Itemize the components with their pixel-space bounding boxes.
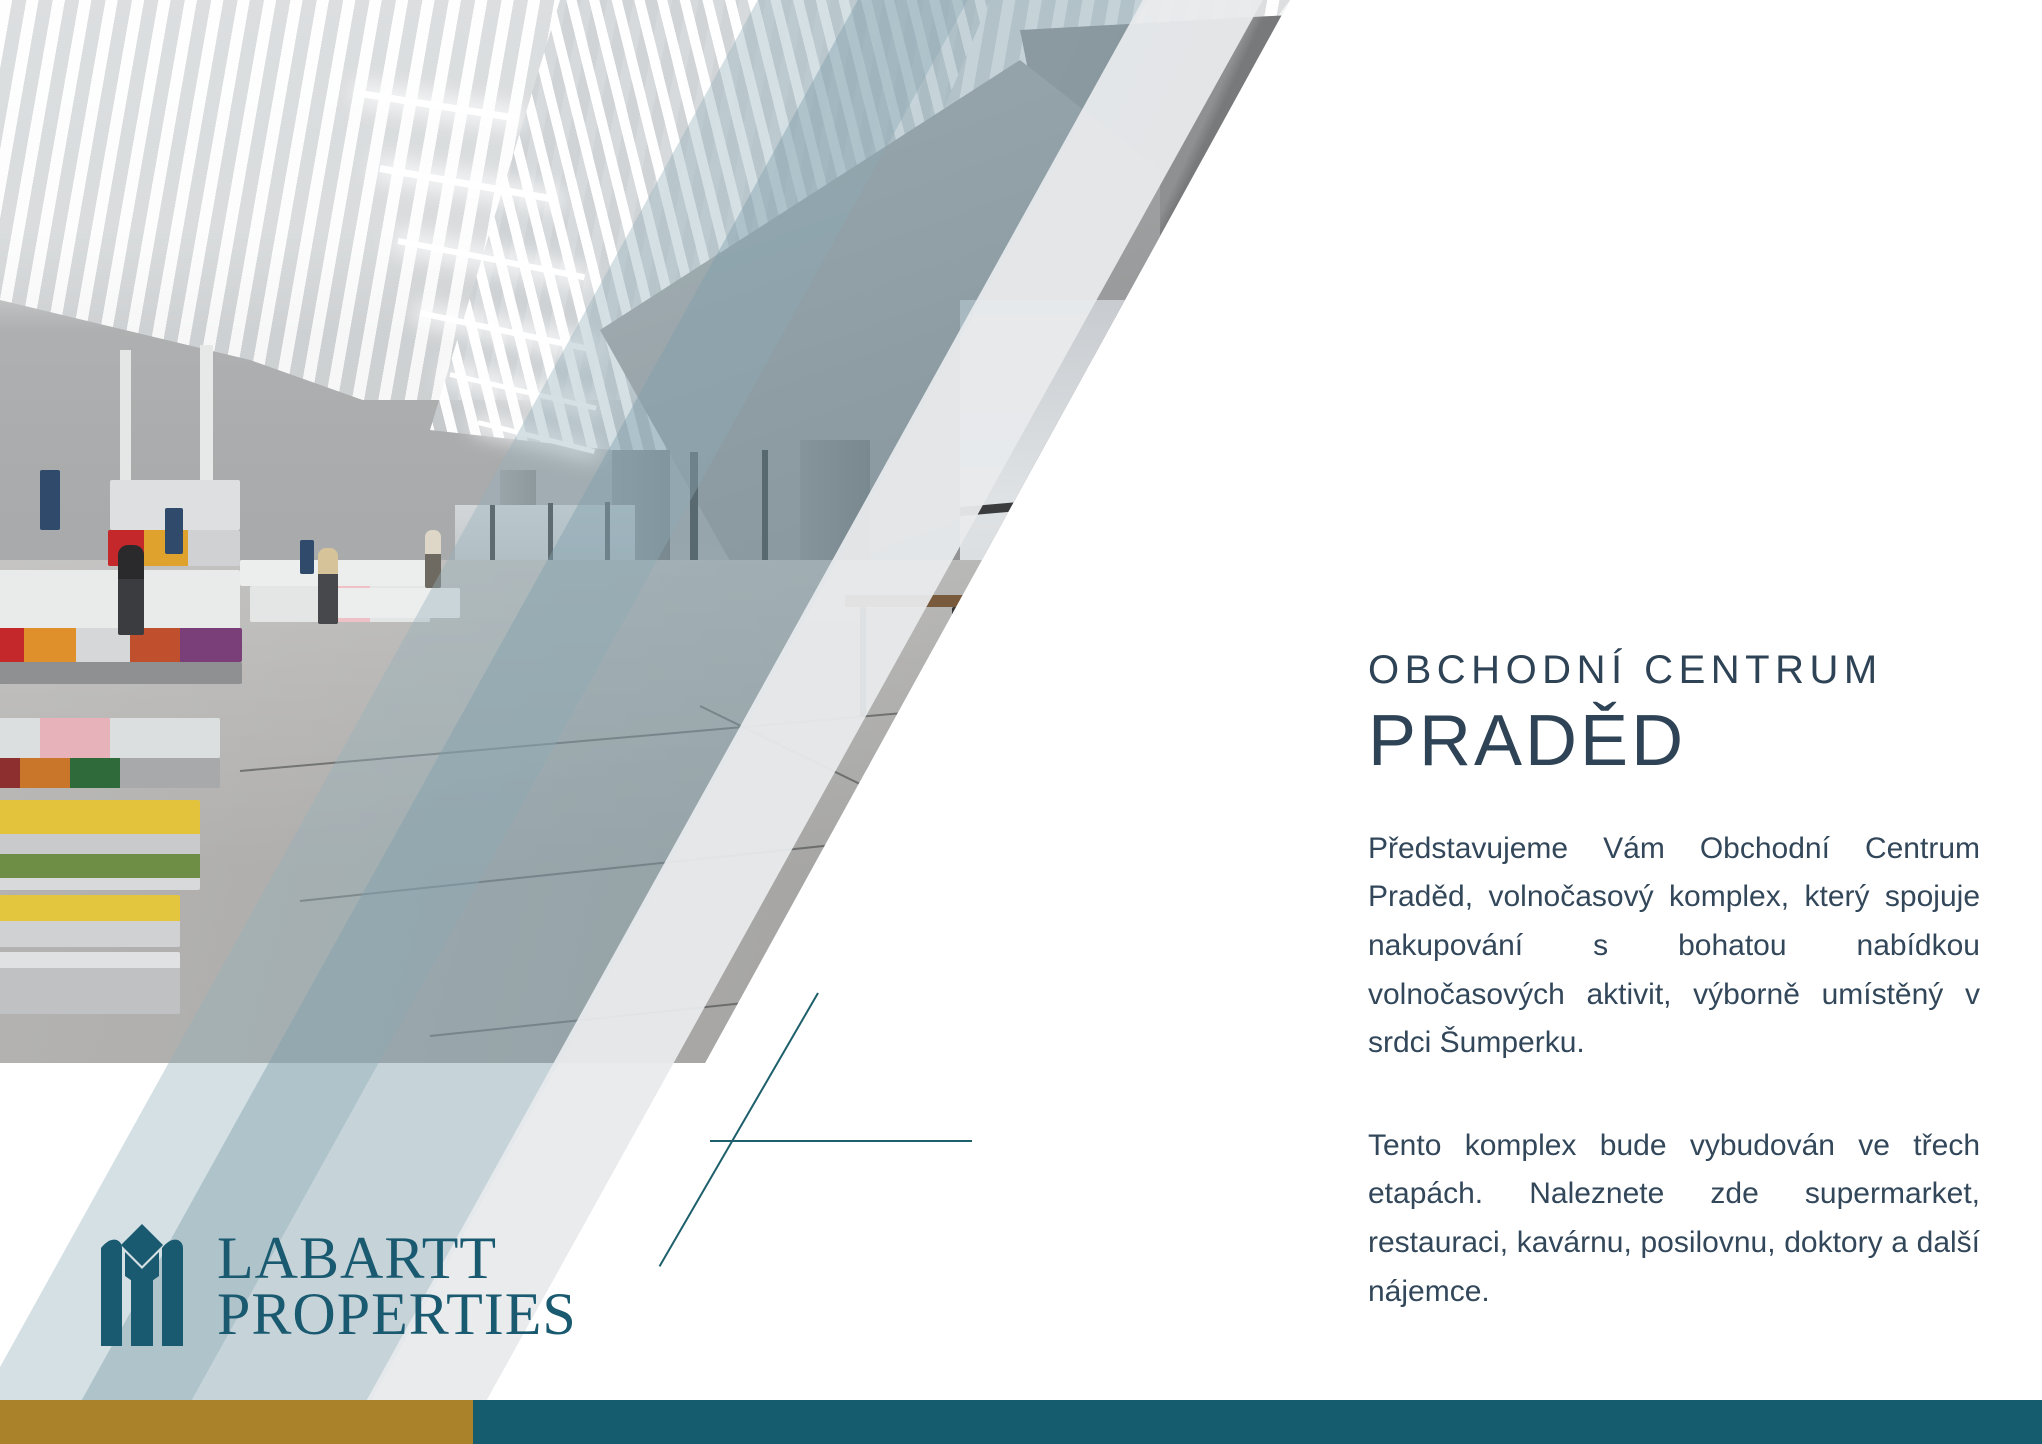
shelf-block-c [0,662,242,684]
logo-wordmark: LABARTT PROPERTIES [217,1231,577,1341]
person-shopper-mid [318,548,338,624]
logo-line-2: PROPERTIES [217,1287,577,1342]
shelf-block-e [0,758,220,788]
cafe-bar-leg-2 [952,607,958,707]
shelf-block-f [0,800,200,890]
accent-line-horizontal [710,1140,972,1142]
signage-board-3 [300,540,314,574]
brochure-page: OBCHODNÍ CENTRUM PRADĚD Představujeme Vá… [0,0,2042,1444]
company-logo: LABARTT PROPERTIES [95,1218,577,1355]
page-title: PRADĚD [1368,700,1988,783]
copy-block: OBCHODNÍ CENTRUM PRADĚD Představujeme Vá… [1368,648,1988,1346]
store-yellow-banner [1060,410,1360,521]
signage-board-2 [165,508,183,554]
person-pair-woman [1068,552,1100,712]
wine-shelf [1245,500,1385,670]
shelf-block-d [0,718,220,758]
mullion-v-1 [1152,508,1161,798]
logo-line-1: LABARTT [217,1231,577,1286]
labartt-building-mark-icon [95,1218,191,1355]
footer-bar [0,1400,2042,1444]
person-pair-man [985,550,1019,700]
signage-board-1 [40,470,60,530]
eyebrow-heading: OBCHODNÍ CENTRUM [1368,648,1988,692]
shelf-block-h [0,952,180,1014]
paragraph-intro: Představujeme Vám Obchodní Centrum Pradě… [1368,825,1980,1068]
footer-gold-segment [0,1400,473,1444]
footer-teal-segment [473,1400,2042,1444]
person-shopper-left [118,545,144,635]
shelf-block-g [0,895,180,947]
paragraph-phases: Tento komplex bude vybudován ve třech et… [1368,1122,1980,1316]
mullion-v-2 [1230,500,1237,800]
